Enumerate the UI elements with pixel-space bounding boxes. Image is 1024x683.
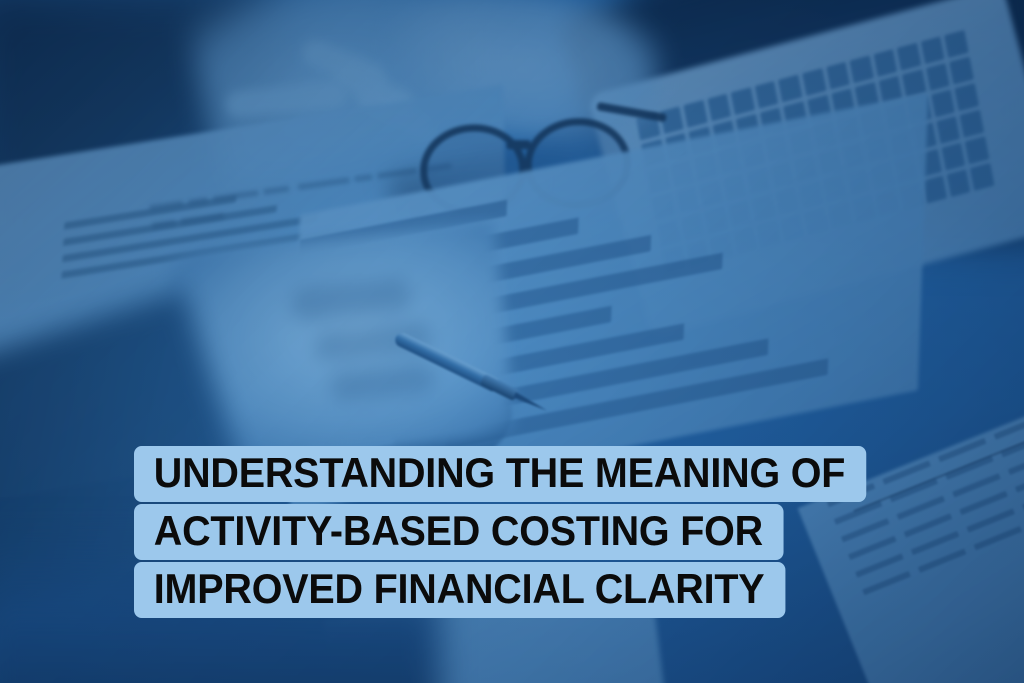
banner-title-block: UNDERSTANDING THE MEANING OF ACTIVITY-BA… [134, 446, 913, 618]
banner-title-line-2: ACTIVITY-BASED COSTING FOR [134, 504, 784, 560]
article-hero-banner: UNDERSTANDING THE MEANING OF ACTIVITY-BA… [0, 0, 1024, 683]
banner-title-line-3: IMPROVED FINANCIAL CLARITY [134, 562, 785, 618]
banner-title-line-1: UNDERSTANDING THE MEANING OF [134, 446, 866, 502]
